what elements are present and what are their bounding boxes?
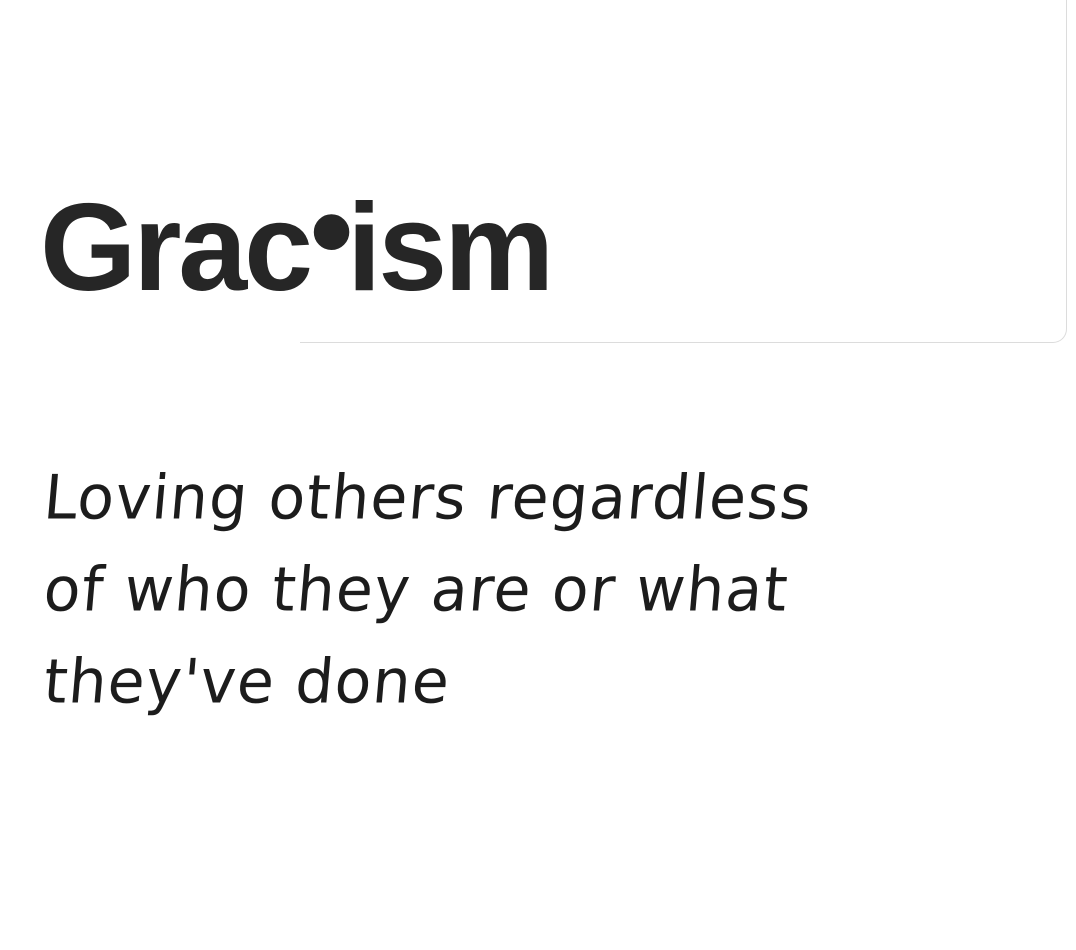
page-root: Grac•ism Loving others regardless of who…: [0, 0, 1076, 950]
title-part-one: Grac: [40, 179, 310, 317]
bullet-separator-icon: •: [310, 169, 347, 293]
definition-line-2: of who they are or what: [40, 543, 1048, 637]
definition-line-1: Loving others regardless: [40, 451, 1048, 545]
page-title: Grac•ism: [40, 186, 551, 310]
title-block: Grac•ism: [40, 186, 1040, 310]
definition-block: Loving others regardless of who they are…: [44, 452, 1044, 728]
title-part-two: ism: [347, 179, 551, 317]
definition-line-3: they've done: [40, 635, 1048, 729]
